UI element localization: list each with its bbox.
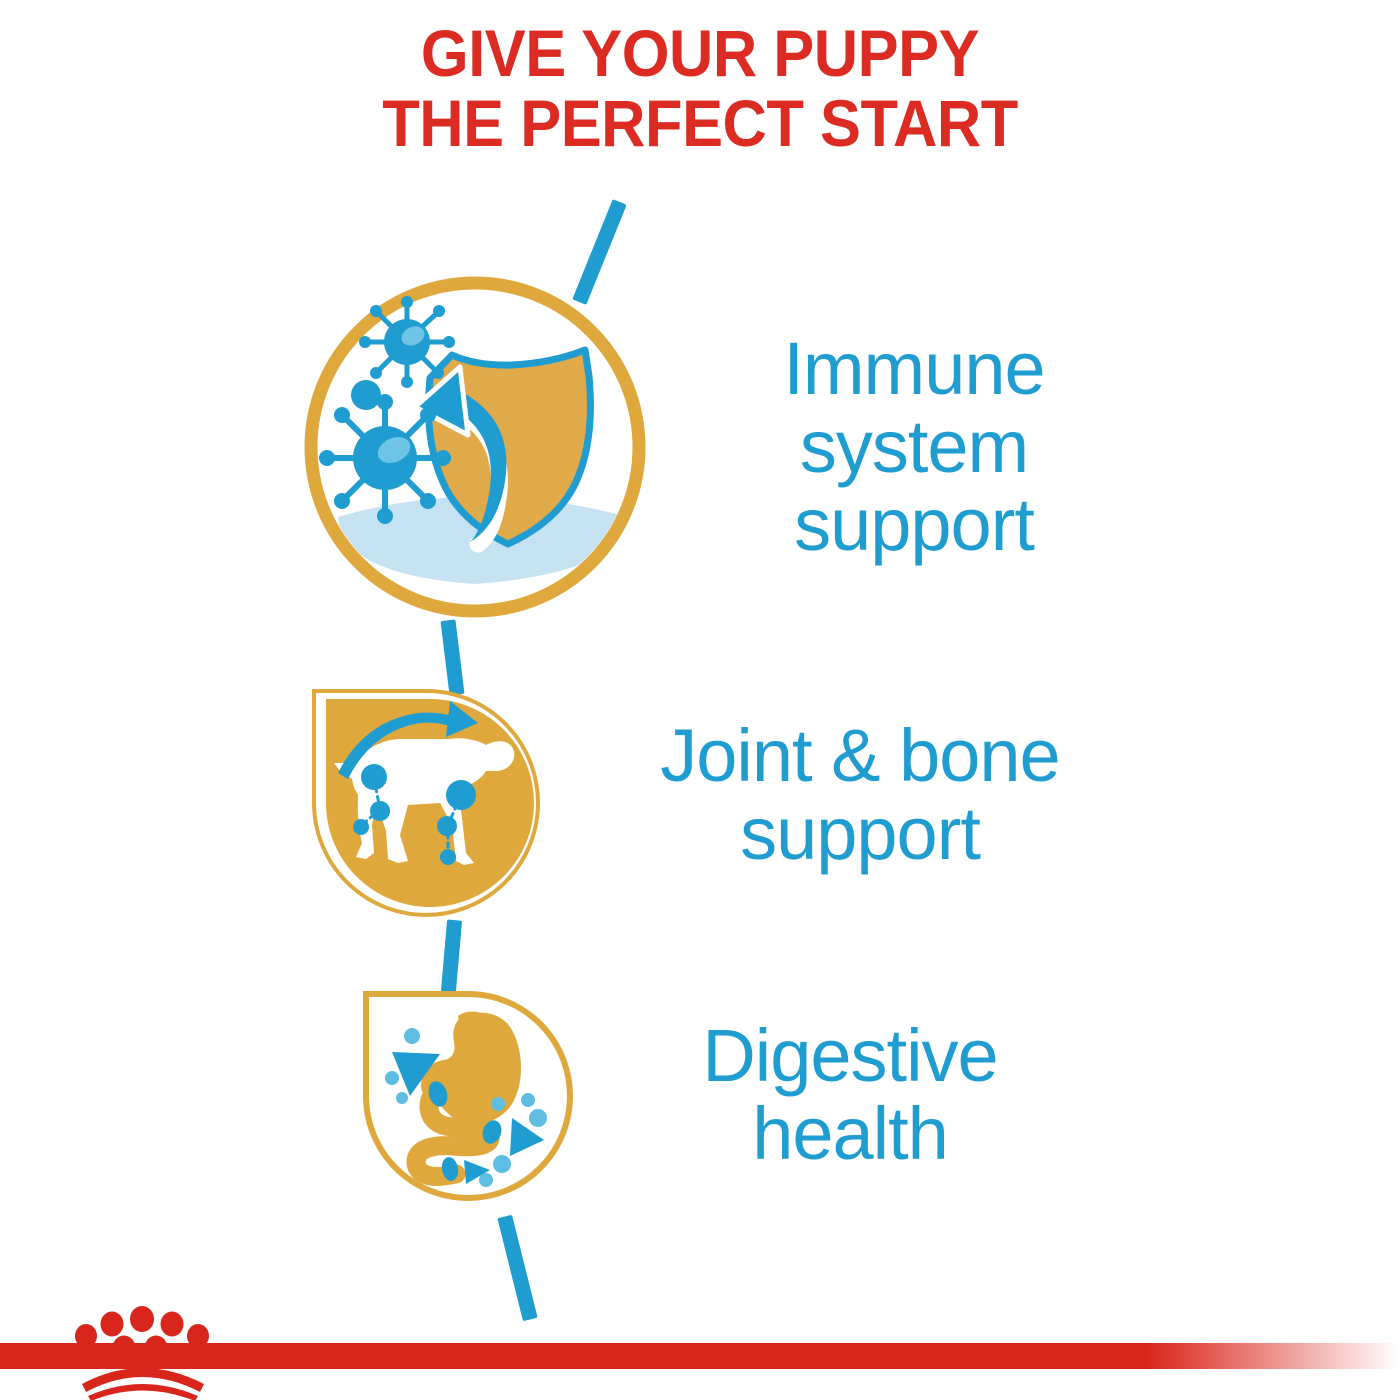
benefit-row-joint-bone: Joint & bone support bbox=[300, 670, 1160, 920]
puppy-joint-icon bbox=[300, 675, 550, 915]
benefit-label-joint-bone: Joint & bone support bbox=[580, 717, 1140, 873]
poster-root: GIVE YOUR PUPPY THE PERFECT START bbox=[0, 0, 1400, 1400]
benefit-label-immune-line-3: support bbox=[708, 486, 1120, 564]
benefit-label-immune-line-1: Immune bbox=[708, 330, 1120, 408]
benefit-label-joint-bone-line-1: Joint & bone bbox=[580, 717, 1140, 795]
page-title-line-2: THE PERFECT START bbox=[49, 88, 1351, 158]
benefit-label-immune-line-2: system bbox=[708, 408, 1120, 486]
page-title-line-1: GIVE YOUR PUPPY bbox=[49, 18, 1351, 88]
page-title: GIVE YOUR PUPPY THE PERFECT START bbox=[49, 18, 1351, 158]
benefit-label-digestive-line-1: Digestive bbox=[640, 1017, 1060, 1095]
immune-shield-icon bbox=[300, 272, 650, 622]
benefit-row-immune: Immune system support bbox=[300, 272, 1120, 622]
benefit-label-joint-bone-line-2: support bbox=[580, 795, 1140, 873]
stomach-digestive-icon bbox=[352, 980, 582, 1210]
benefit-label-digestive-line-2: health bbox=[640, 1095, 1060, 1173]
connector-dash-4 bbox=[497, 1215, 537, 1321]
benefit-row-digestive: Digestive health bbox=[300, 975, 1120, 1215]
royal-canin-crown-logo bbox=[64, 1306, 224, 1398]
benefit-label-immune: Immune system support bbox=[708, 330, 1120, 564]
benefit-label-digestive: Digestive health bbox=[640, 1017, 1060, 1173]
